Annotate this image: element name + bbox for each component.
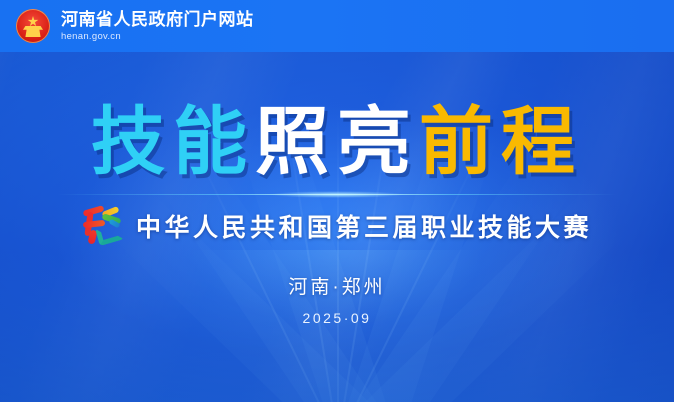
subtitle: 中华人民共和国第三届职业技能大赛	[136, 208, 592, 244]
site-header: 河南省人民政府门户网站 henan.gov.cn	[0, 0, 674, 52]
event-location: 河南·郑州	[288, 272, 385, 299]
national-emblem-icon	[16, 9, 50, 43]
poster-content: 技能 照亮 前程 中华人民共和国第三届职业技能大赛 河南·郑州 2025·09	[0, 0, 674, 402]
site-brand[interactable]: 河南省人民政府门户网站 henan.gov.cn	[61, 11, 254, 41]
main-title-part-1: 技能	[91, 105, 255, 179]
main-title: 技能 照亮 前程	[91, 105, 583, 179]
subtitle-row: 中华人民共和国第三届职业技能大赛	[82, 206, 592, 246]
skills-competition-logo-icon	[82, 206, 124, 246]
promo-poster: 河南省人民政府门户网站 henan.gov.cn 技能 照亮 前程 中华人民共和…	[0, 0, 674, 402]
glow-divider	[57, 193, 617, 196]
site-title: 河南省人民政府门户网站	[61, 11, 254, 29]
main-title-part-3: 前程	[419, 105, 583, 179]
main-title-part-2: 照亮	[255, 105, 419, 179]
event-date: 2025·09	[303, 310, 372, 326]
site-url: henan.gov.cn	[61, 32, 254, 42]
